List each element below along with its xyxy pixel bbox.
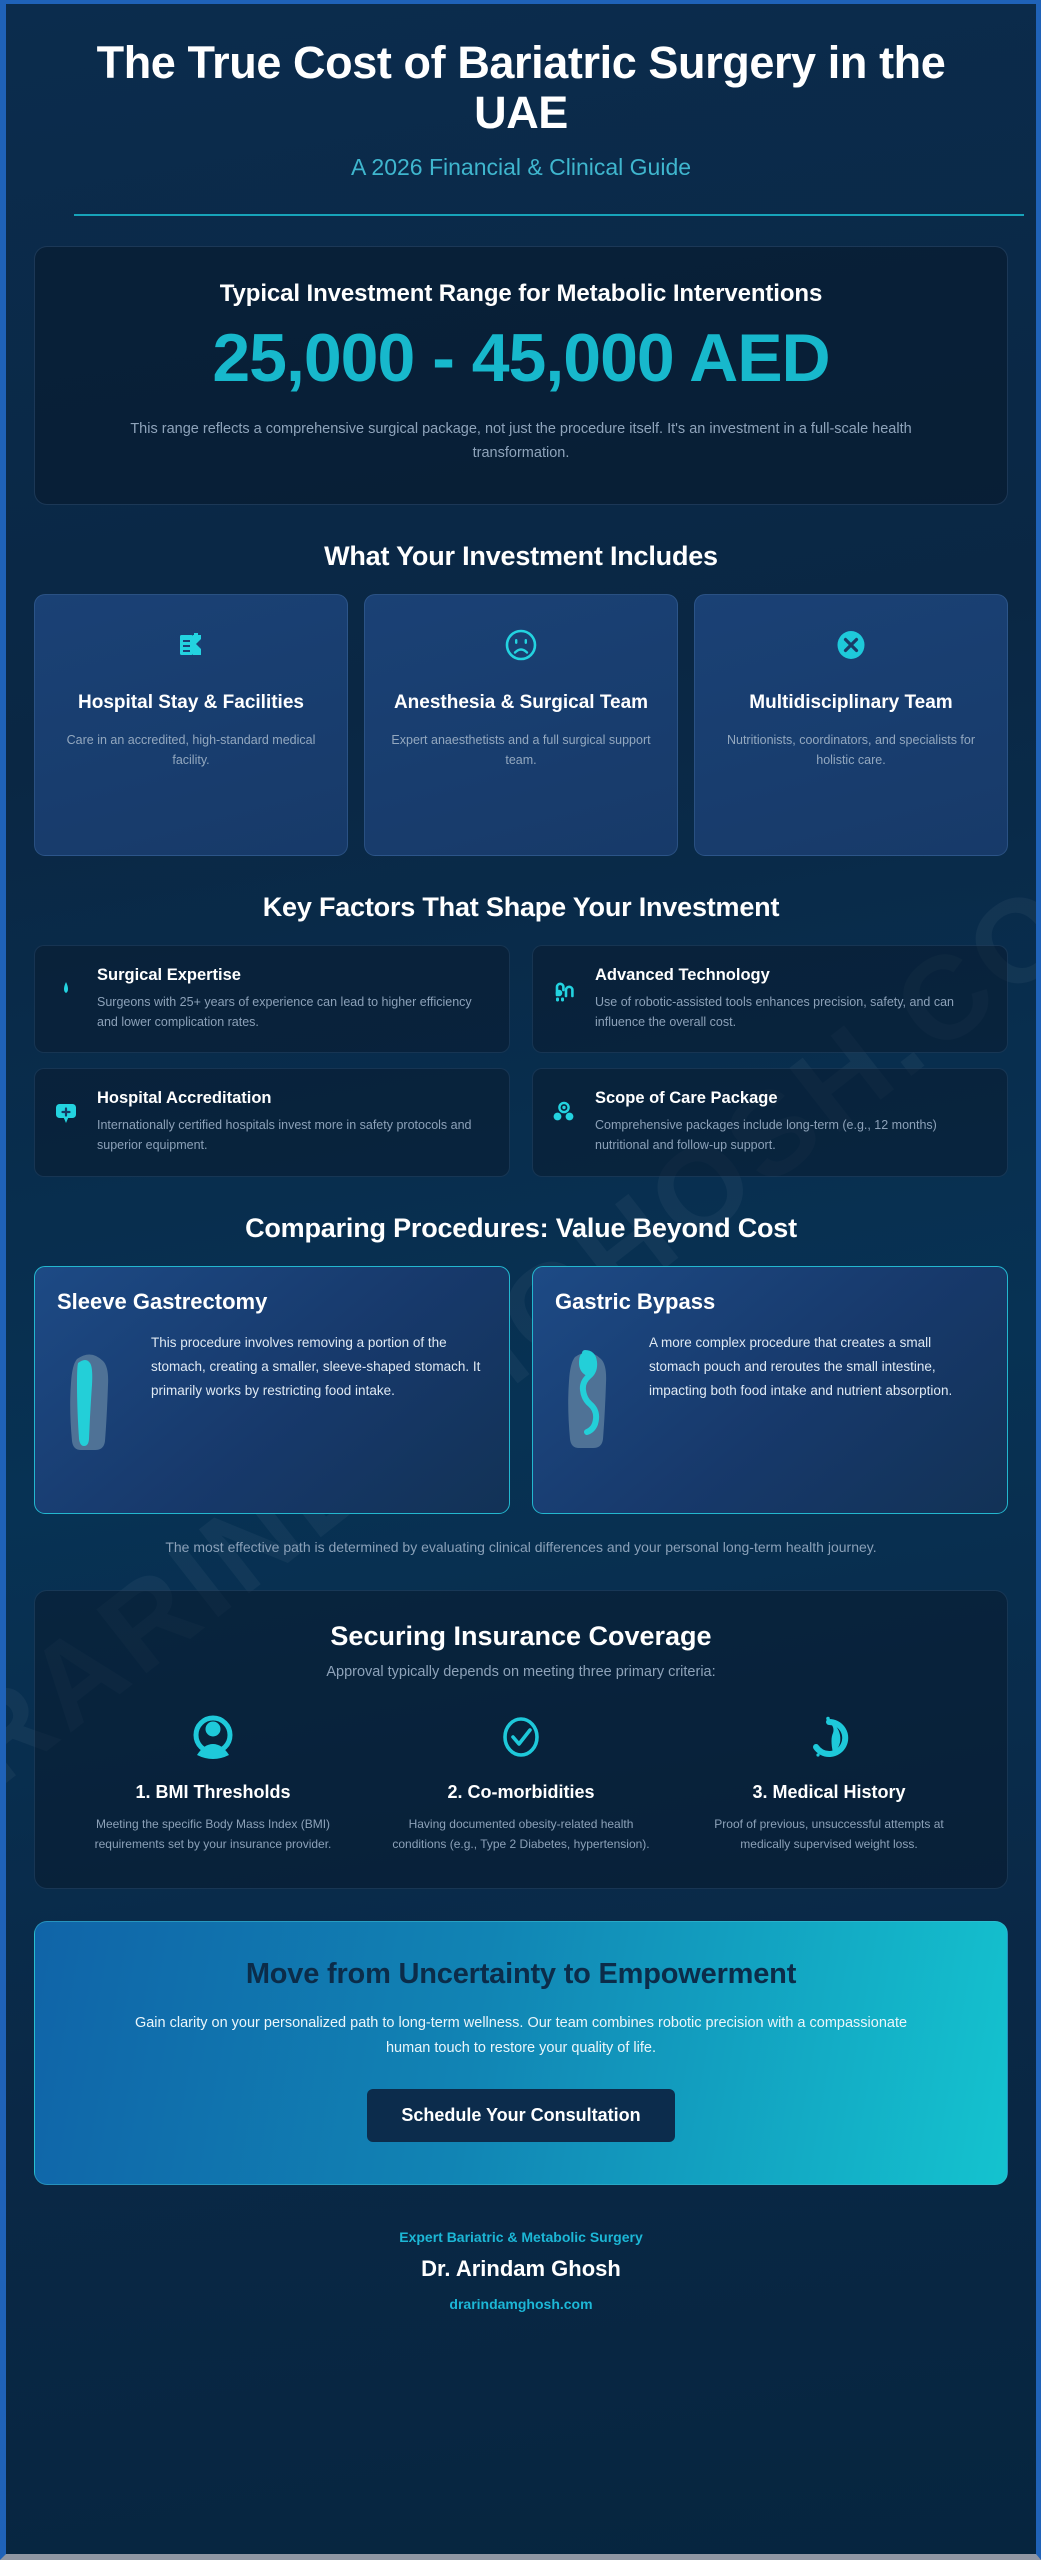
anesthesia-face-icon xyxy=(381,621,661,669)
criterion-bmi-thresholds[interactable]: 1. BMI Thresholds Meeting the specific B… xyxy=(65,1710,361,1854)
factor-card-scope-of-care[interactable]: Scope of Care Package Comprehensive pack… xyxy=(532,1068,1008,1177)
investment-range-label: Typical Investment Range for Metabolic I… xyxy=(93,280,949,308)
include-card-title: Hospital Stay & Facilities xyxy=(51,691,331,715)
investment-range-value: 25,000 - 45,000 AED xyxy=(93,322,949,394)
factor-card-advanced-technology[interactable]: Advanced Technology Use of robotic-assis… xyxy=(532,945,1008,1054)
hospital-building-icon xyxy=(51,621,331,669)
factor-card-title: Scope of Care Package xyxy=(595,1089,987,1108)
insurance-subtitle: Approval typically depends on meeting th… xyxy=(65,1664,977,1680)
cta-title: Move from Uncertainty to Empowerment xyxy=(75,1958,967,1991)
include-card-multidisciplinary[interactable]: Multidisciplinary Team Nutritionists, co… xyxy=(694,594,1008,856)
factor-card-desc: Internationally certified hospitals inve… xyxy=(97,1115,489,1156)
check-circle-icon xyxy=(373,1710,669,1764)
scalpel-icon xyxy=(49,973,83,1007)
factor-card-desc: Use of robotic-assisted tools enhances p… xyxy=(595,992,987,1033)
care-package-icon xyxy=(547,1096,581,1130)
cta-desc: Gain clarity on your personalized path t… xyxy=(121,2011,921,2061)
header-divider xyxy=(74,214,1024,216)
factor-card-title: Advanced Technology xyxy=(595,966,987,985)
footer-tagline: Expert Bariatric & Metabolic Surgery xyxy=(34,2229,1008,2245)
infographic-page: DRARINDAMGHOSH.COM The True Cost of Bari… xyxy=(0,0,1041,2560)
investment-range-card: Typical Investment Range for Metabolic I… xyxy=(34,246,1008,505)
compare-card-desc: This procedure involves removing a porti… xyxy=(151,1331,487,1403)
criterion-desc: Proof of previous, unsuccessful attempts… xyxy=(681,1814,977,1854)
compare-grid: Sleeve Gastrectomy This procedure involv… xyxy=(34,1266,1008,1514)
factor-card-surgical-expertise[interactable]: Surgical Expertise Surgeons with 25+ yea… xyxy=(34,945,510,1054)
include-card-desc: Care in an accredited, high-standard med… xyxy=(51,730,331,771)
criterion-title: 3. Medical History xyxy=(681,1782,977,1803)
factor-card-title: Hospital Accreditation xyxy=(97,1089,489,1108)
includes-section-title: What Your Investment Includes xyxy=(34,541,1008,572)
bypass-stomach-diagram xyxy=(555,1331,633,1457)
include-card-title: Anesthesia & Surgical Team xyxy=(381,691,661,715)
footer: Expert Bariatric & Metabolic Surgery Dr.… xyxy=(34,2229,1008,2352)
insurance-card: Securing Insurance Coverage Approval typ… xyxy=(34,1590,1008,1889)
compare-card-desc: A more complex procedure that creates a … xyxy=(649,1331,985,1403)
page-subtitle: A 2026 Financial & Clinical Guide xyxy=(74,154,968,181)
robotic-arm-icon xyxy=(547,973,581,1007)
criterion-desc: Having documented obesity-related health… xyxy=(373,1814,669,1854)
factor-card-desc: Surgeons with 25+ years of experience ca… xyxy=(97,992,489,1033)
criterion-co-morbidities[interactable]: 2. Co-morbidities Having documented obes… xyxy=(373,1710,669,1854)
compare-card-title: Gastric Bypass xyxy=(555,1289,985,1315)
factor-card-title: Surgical Expertise xyxy=(97,966,489,985)
factor-card-desc: Comprehensive packages include long-term… xyxy=(595,1115,987,1156)
history-arc-icon xyxy=(681,1710,977,1764)
multidisciplinary-circle-x-icon xyxy=(711,621,991,669)
footer-website-link[interactable]: drarindamghosh.com xyxy=(34,2296,1008,2312)
investment-range-note: This range reflects a comprehensive surg… xyxy=(126,418,916,466)
factors-section-title: Key Factors That Shape Your Investment xyxy=(34,892,1008,923)
accreditation-shield-icon xyxy=(49,1096,83,1130)
compare-card-title: Sleeve Gastrectomy xyxy=(57,1289,487,1315)
sleeve-stomach-diagram xyxy=(57,1331,135,1457)
cta-banner: Move from Uncertainty to Empowerment Gai… xyxy=(34,1921,1008,2185)
criterion-title: 2. Co-morbidities xyxy=(373,1782,669,1803)
include-card-hospital-stay[interactable]: Hospital Stay & Facilities Care in an ac… xyxy=(34,594,348,856)
insurance-title: Securing Insurance Coverage xyxy=(65,1621,977,1652)
compare-card-gastric-bypass[interactable]: Gastric Bypass A more complex procedure … xyxy=(532,1266,1008,1514)
compare-card-sleeve-gastrectomy[interactable]: Sleeve Gastrectomy This procedure involv… xyxy=(34,1266,510,1514)
footer-doctor-name: Dr. Arindam Ghosh xyxy=(34,2256,1008,2282)
page-title: The True Cost of Bariatric Surgery in th… xyxy=(74,38,968,139)
header: The True Cost of Bariatric Surgery in th… xyxy=(34,4,1008,216)
insurance-criteria-grid: 1. BMI Thresholds Meeting the specific B… xyxy=(65,1710,977,1854)
compare-section-title: Comparing Procedures: Value Beyond Cost xyxy=(34,1213,1008,1244)
includes-grid: Hospital Stay & Facilities Care in an ac… xyxy=(34,594,1008,856)
factors-grid: Surgical Expertise Surgeons with 25+ yea… xyxy=(34,945,1008,1177)
compare-note: The most effective path is determined by… xyxy=(51,1536,991,1560)
include-card-anesthesia[interactable]: Anesthesia & Surgical Team Expert anaest… xyxy=(364,594,678,856)
criterion-title: 1. BMI Thresholds xyxy=(65,1782,361,1803)
include-card-desc: Nutritionists, coordinators, and special… xyxy=(711,730,991,771)
criterion-medical-history[interactable]: 3. Medical History Proof of previous, un… xyxy=(681,1710,977,1854)
criterion-desc: Meeting the specific Body Mass Index (BM… xyxy=(65,1814,361,1854)
schedule-consultation-button[interactable]: Schedule Your Consultation xyxy=(367,2089,674,2142)
include-card-desc: Expert anaesthetists and a full surgical… xyxy=(381,730,661,771)
person-avatar-icon xyxy=(65,1710,361,1764)
include-card-title: Multidisciplinary Team xyxy=(711,691,991,715)
factor-card-hospital-accreditation[interactable]: Hospital Accreditation Internationally c… xyxy=(34,1068,510,1177)
